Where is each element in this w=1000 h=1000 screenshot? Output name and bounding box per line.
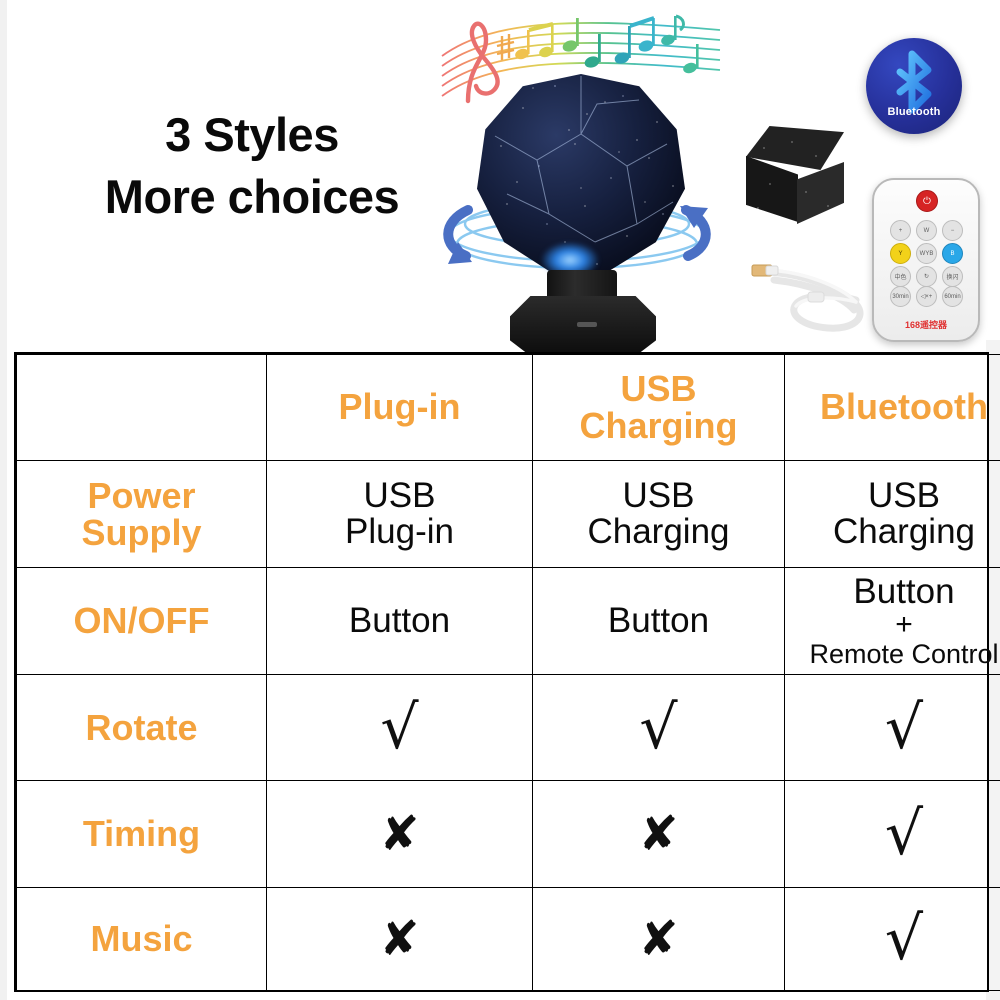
cell-power-usb-line2: Charging <box>537 514 780 550</box>
bluetooth-badge: Bluetooth <box>866 38 962 134</box>
table-row-music: Music ✘ ✘ √ <box>17 888 1000 991</box>
remote-button-rotate: ↻ <box>916 266 937 287</box>
cell-music-bluetooth: √ <box>785 888 1000 991</box>
table-header-row: Plug-in USB Charging Bluetooth <box>17 355 1000 461</box>
remote-control-image: ⏻ + W − Y WYB B 中色 ↻ 换闪 30min ◁×+ 60min … <box>872 178 980 342</box>
cell-power-bt-line2: Charging <box>789 514 1000 550</box>
cross-icon: ✘ <box>537 810 780 858</box>
cell-onoff-usb: Button <box>533 568 785 675</box>
remote-button-volume-up: ◁×+ <box>916 286 937 307</box>
cell-onoff-usb-text: Button <box>537 603 780 639</box>
check-icon: √ <box>271 698 528 758</box>
remote-button-wyb: WYB <box>916 243 937 264</box>
cell-power-plugin: USB Plug-in <box>267 461 533 568</box>
lamp-usb-port <box>577 322 597 327</box>
page-title: 3 Styles More choices <box>52 104 452 228</box>
cell-onoff-bt-line3: Remote Control <box>789 640 1000 669</box>
cross-icon: ✘ <box>537 915 780 963</box>
header-usb-line1: USB <box>537 371 780 408</box>
cell-onoff-bluetooth: Button + Remote Control <box>785 568 1000 675</box>
remote-button-flash: 换闪 <box>942 266 963 287</box>
hero-section: 3 Styles More choices <box>0 0 1000 352</box>
header-bluetooth-label: Bluetooth <box>789 389 1000 426</box>
cell-onoff-bt-line1: Button <box>789 574 1000 610</box>
row-label-rotate: Rotate <box>17 675 267 781</box>
headline-line-1: 3 Styles <box>165 108 339 161</box>
remote-button-60min: 60min <box>942 286 963 307</box>
check-icon: √ <box>789 804 1000 864</box>
bluetooth-badge-label: Bluetooth <box>866 106 962 118</box>
header-cell-usb-charging: USB Charging <box>533 355 785 461</box>
remote-button-plus: + <box>890 220 911 241</box>
cell-power-usb: USB Charging <box>533 461 785 568</box>
remote-button-b: B <box>942 243 963 264</box>
table-row-rotate: Rotate √ √ √ <box>17 675 1000 781</box>
check-icon: √ <box>537 698 780 758</box>
star-projector-lamp-image <box>455 74 705 356</box>
box-constellation-print <box>736 126 854 230</box>
remote-model-label: 168遥控器 <box>874 318 978 331</box>
cell-music-usb: ✘ <box>533 888 785 991</box>
cell-timing-plugin: ✘ <box>267 781 533 888</box>
row-label-music-text: Music <box>21 920 262 957</box>
cell-power-plugin-line2: Plug-in <box>271 514 528 550</box>
cell-power-usb-line1: USB <box>537 478 780 514</box>
check-icon: √ <box>789 698 1000 758</box>
cell-timing-bluetooth: √ <box>785 781 1000 888</box>
header-cell-plugin: Plug-in <box>267 355 533 461</box>
remote-button-color: 中色 <box>890 266 911 287</box>
cell-onoff-bt-plus: + <box>789 610 1000 640</box>
remote-button-y: Y <box>890 243 911 264</box>
row-label-onoff: ON/OFF <box>17 568 267 675</box>
bluetooth-icon <box>866 38 962 134</box>
cell-power-bluetooth: USB Charging <box>785 461 1000 568</box>
header-cell-empty <box>17 355 267 461</box>
headline-line-2: More choices <box>52 166 452 228</box>
remote-button-30min: 30min <box>890 286 911 307</box>
cell-onoff-plugin-text: Button <box>271 603 528 639</box>
cross-icon: ✘ <box>271 810 528 858</box>
row-label-onoff-text: ON/OFF <box>21 602 262 639</box>
table-row-timing: Timing ✘ ✘ √ <box>17 781 1000 888</box>
check-icon: √ <box>789 909 1000 969</box>
header-plugin-label: Plug-in <box>271 389 528 426</box>
table-row-onoff: ON/OFF Button Button Button + Remote Con… <box>17 568 1000 675</box>
remote-button-minus: − <box>942 220 963 241</box>
header-cell-bluetooth: Bluetooth <box>785 355 1000 461</box>
row-label-power-line2: Supply <box>21 514 262 551</box>
infographic-page: 3 Styles More choices <box>0 0 1000 1000</box>
cell-onoff-plugin: Button <box>267 568 533 675</box>
remote-button-w: W <box>916 220 937 241</box>
table-row-power-supply: Power Supply USB Plug-in USB Charging <box>17 461 1000 568</box>
row-label-power-supply: Power Supply <box>17 461 267 568</box>
row-label-power-line1: Power <box>21 477 262 514</box>
cell-power-plugin-line1: USB <box>271 478 528 514</box>
remote-power-button: ⏻ <box>916 190 938 212</box>
cell-power-bt-line1: USB <box>789 478 1000 514</box>
cell-rotate-plugin: √ <box>267 675 533 781</box>
header-usb-line2: Charging <box>537 408 780 445</box>
comparison-table: Plug-in USB Charging Bluetooth Power Sup <box>14 352 989 992</box>
cell-rotate-bluetooth: √ <box>785 675 1000 781</box>
row-label-timing-text: Timing <box>21 815 262 852</box>
row-label-rotate-text: Rotate <box>21 709 262 746</box>
row-label-timing: Timing <box>17 781 267 888</box>
cell-timing-usb: ✘ <box>533 781 785 888</box>
cell-rotate-usb: √ <box>533 675 785 781</box>
cross-icon: ✘ <box>271 915 528 963</box>
row-label-music: Music <box>17 888 267 991</box>
constellation-gift-box-image <box>736 126 854 230</box>
cell-music-plugin: ✘ <box>267 888 533 991</box>
